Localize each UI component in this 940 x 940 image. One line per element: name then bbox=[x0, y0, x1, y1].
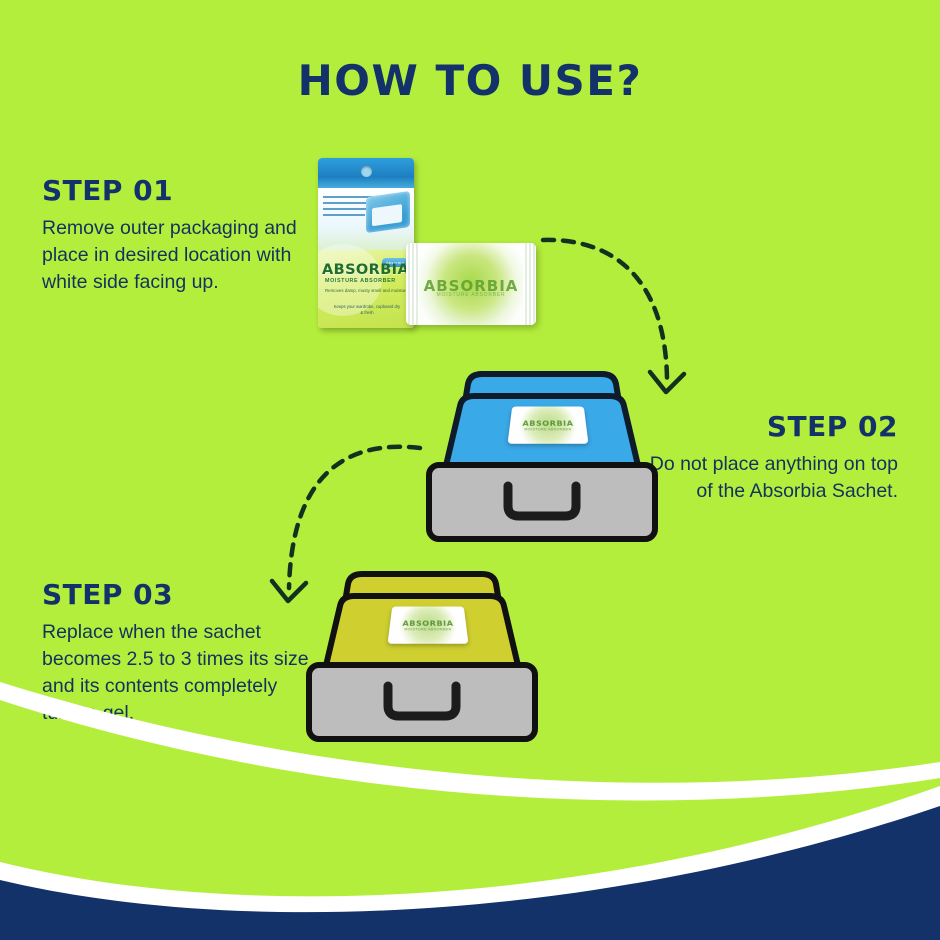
package-header-band bbox=[318, 158, 414, 192]
drawer-illustration-step-02: ABSORBIA MOISTURE ABSORBER bbox=[424, 368, 660, 544]
drawer2-sachet-label: ABSORBIA bbox=[510, 420, 587, 428]
sachet-subtitle-label: MOISTURE ABSORBER bbox=[406, 292, 536, 298]
package-tagline: Removes damp, musty smell and moisture bbox=[325, 288, 409, 293]
step-01-title: STEP 01 bbox=[42, 174, 310, 207]
package-hang-hole bbox=[361, 166, 372, 177]
infographic-canvas: HOW TO USE? STEP 01 Remove outer packagi… bbox=[0, 0, 940, 940]
footer-wave-white-thin bbox=[0, 682, 940, 801]
drawer3-sachet-sublabel: MOISTURE ABSORBER bbox=[389, 628, 467, 632]
footer-wave bbox=[0, 680, 940, 940]
package-footer-text: Keeps your wardrobe, cupboard dry & fres… bbox=[332, 304, 402, 316]
drawer2-front-panel bbox=[429, 465, 655, 539]
footer-wave-navy bbox=[0, 800, 940, 940]
drawer2-sachet: ABSORBIA MOISTURE ABSORBER bbox=[508, 407, 589, 444]
absorbia-sachet-image: ABSORBIA MOISTURE ABSORBER bbox=[406, 243, 536, 325]
drawer3-sachet-label: ABSORBIA bbox=[390, 620, 467, 628]
product-package-image: Absorbia ABSORBIA MOISTURE ABSORBER Remo… bbox=[318, 158, 414, 328]
drawer3-sachet: ABSORBIA MOISTURE ABSORBER bbox=[388, 607, 469, 644]
step-02-block: STEP 02 Do not place anything on top of … bbox=[636, 410, 898, 505]
step-03-title: STEP 03 bbox=[42, 578, 314, 611]
step-02-title: STEP 02 bbox=[636, 410, 898, 443]
package-subtitle: MOISTURE ABSORBER bbox=[325, 278, 409, 284]
package-brand-logo: ABSORBIA bbox=[322, 262, 410, 278]
package-drawer-illustration bbox=[366, 191, 410, 233]
drawer2-sachet-sublabel: MOISTURE ABSORBER bbox=[509, 428, 587, 432]
page-title: HOW TO USE? bbox=[0, 56, 940, 105]
step-02-body: Do not place anything on top of the Abso… bbox=[636, 451, 898, 505]
step-01-body: Remove outer packaging and place in desi… bbox=[42, 215, 310, 296]
step-01-block: STEP 01 Remove outer packaging and place… bbox=[42, 174, 310, 296]
